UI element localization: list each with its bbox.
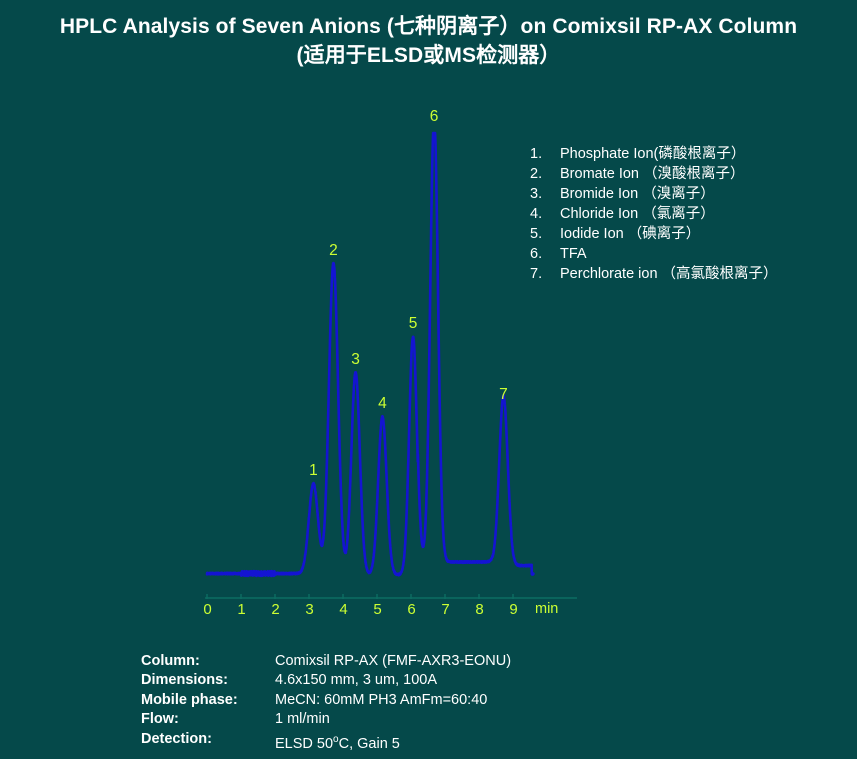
x-axis-tick-label: 6 <box>407 601 415 618</box>
chromatogram-trace <box>207 133 533 576</box>
method-row-value: MeCN: 60mM PH3 AmFm=60:40 <box>275 691 511 710</box>
x-axis-tick-label: 0 <box>203 601 211 618</box>
x-axis-tick-label: 4 <box>339 601 347 618</box>
slide-canvas: HPLC Analysis of Seven Anions (七种阴离子）on … <box>0 0 857 759</box>
method-row: Flow:1 ml/min <box>141 710 511 729</box>
method-row: Dimensions:4.6x150 mm, 3 um, 100A <box>141 671 511 690</box>
method-row-key: Detection: <box>141 730 275 754</box>
peak-label-3: 3 <box>351 351 360 369</box>
method-row-value: ELSD 50oC, Gain 5 <box>275 730 511 754</box>
method-row-value: 4.6x150 mm, 3 um, 100A <box>275 671 511 690</box>
x-axis-tick-label: 7 <box>441 601 449 618</box>
x-axis-tick-label: 3 <box>305 601 313 618</box>
peak-label-6: 6 <box>430 108 439 126</box>
method-conditions-table: Column: Comixsil RP-AX (FMF-AXR3-EONU)Di… <box>141 652 511 754</box>
method-row-value: 1 ml/min <box>275 710 511 729</box>
method-row: Column: Comixsil RP-AX (FMF-AXR3-EONU) <box>141 652 511 671</box>
method-row: Mobile phase:MeCN: 60mM PH3 AmFm=60:40 <box>141 691 511 710</box>
legend-item-label: Chloride Ion （氯离子） <box>560 204 850 224</box>
legend-item-label: Bromide Ion （溴离子） <box>560 184 850 204</box>
legend-item-label: Bromate Ion （溴酸根离子） <box>560 164 850 184</box>
x-axis-tick-label: 9 <box>509 601 517 618</box>
legend-item-label: Perchlorate ion （高氯酸根离子） <box>560 264 850 284</box>
chromatogram-svg <box>195 100 585 605</box>
peak-label-1: 1 <box>309 462 318 480</box>
legend-item-label: Phosphate Ion(磷酸根离子） <box>560 144 850 164</box>
x-axis-tick-label: 8 <box>475 601 483 618</box>
legend-item-label: Iodide Ion （碘离子） <box>560 224 850 244</box>
axis-unit-label: min <box>535 601 558 617</box>
page-title: HPLC Analysis of Seven Anions (七种阴离子）on … <box>0 12 857 70</box>
peak-label-2: 2 <box>329 242 338 260</box>
peak-label-7: 7 <box>499 386 508 404</box>
x-axis-tick-label: 2 <box>271 601 279 618</box>
title-line-1: HPLC Analysis of Seven Anions (七种阴离子）on … <box>0 12 857 41</box>
x-axis-tick-label: 5 <box>373 601 381 618</box>
peak-label-5: 5 <box>409 315 418 333</box>
method-row-key: Dimensions: <box>141 671 275 690</box>
method-row: Detection:ELSD 50oC, Gain 5 <box>141 730 511 754</box>
peak-label-4: 4 <box>378 395 387 413</box>
legend-item-label: TFA <box>560 244 850 264</box>
chromatogram-plot <box>195 100 585 605</box>
method-row-key: Column: <box>141 652 275 671</box>
x-axis-labels: min 0123456789 <box>195 601 585 625</box>
method-row-key: Mobile phase: <box>141 691 275 710</box>
x-axis-tick-label: 1 <box>237 601 245 618</box>
method-row-key: Flow: <box>141 710 275 729</box>
title-line-2: (适用于ELSD或MS检测器） <box>0 41 857 70</box>
method-row-value: Comixsil RP-AX (FMF-AXR3-EONU) <box>275 652 511 671</box>
